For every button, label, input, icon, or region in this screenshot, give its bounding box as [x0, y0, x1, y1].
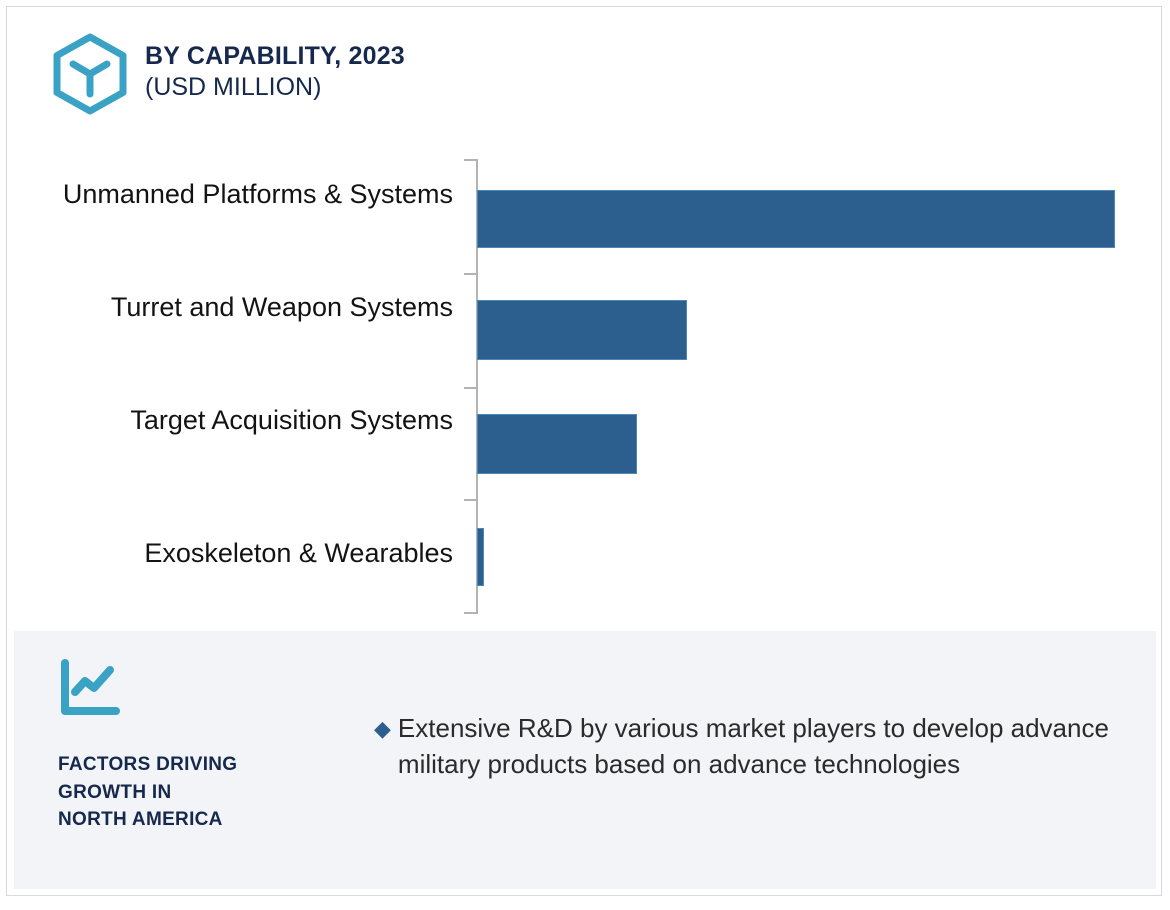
category-label: Target Acquisition Systems	[33, 405, 453, 436]
axis-tick	[464, 273, 477, 275]
axis-tick	[464, 387, 477, 389]
footer-panel: FACTORS DRIVING GROWTH IN NORTH AMERICA …	[14, 631, 1156, 889]
footer-left-block: FACTORS DRIVING GROWTH IN NORTH AMERICA	[58, 659, 358, 834]
hexagon-y-icon	[51, 33, 129, 115]
axis-tick	[464, 159, 477, 161]
bar-unmanned-platforms-systems	[477, 190, 1115, 248]
chart-card: BY CAPABILITY, 2023 (USD MILLION) Unmann…	[6, 6, 1162, 896]
category-label: Exoskeleton & Wearables	[33, 538, 453, 569]
footer-heading: FACTORS DRIVING GROWTH IN NORTH AMERICA	[58, 751, 358, 834]
bullet-item: ◆ Extensive R&D by various market player…	[374, 711, 1114, 782]
axis-tick	[464, 612, 477, 614]
bar-target-acquisition-systems	[477, 414, 637, 474]
footer-heading-line: FACTORS DRIVING	[58, 751, 358, 779]
line-chart-icon	[58, 659, 122, 719]
page-title: BY CAPABILITY, 2023	[145, 41, 405, 72]
bar-turret-and-weapon-systems	[477, 300, 687, 360]
axis-tick	[464, 499, 477, 501]
diamond-bullet-icon: ◆	[374, 711, 391, 744]
chart-title-block: BY CAPABILITY, 2023 (USD MILLION)	[145, 33, 405, 102]
footer-heading-line: GROWTH IN	[58, 779, 358, 807]
bar-exoskeleton-wearables	[477, 528, 484, 586]
chart-header: BY CAPABILITY, 2023 (USD MILLION)	[51, 33, 405, 115]
category-label: Turret and Weapon Systems	[33, 292, 453, 323]
page-subtitle: (USD MILLION)	[145, 72, 405, 103]
footer-heading-line: NORTH AMERICA	[58, 806, 358, 834]
category-label: Unmanned Platforms & Systems	[33, 179, 453, 210]
bullet-text: Extensive R&D by various market players …	[398, 711, 1114, 782]
bar-chart: Unmanned Platforms & Systems Turret and …	[7, 147, 1161, 627]
